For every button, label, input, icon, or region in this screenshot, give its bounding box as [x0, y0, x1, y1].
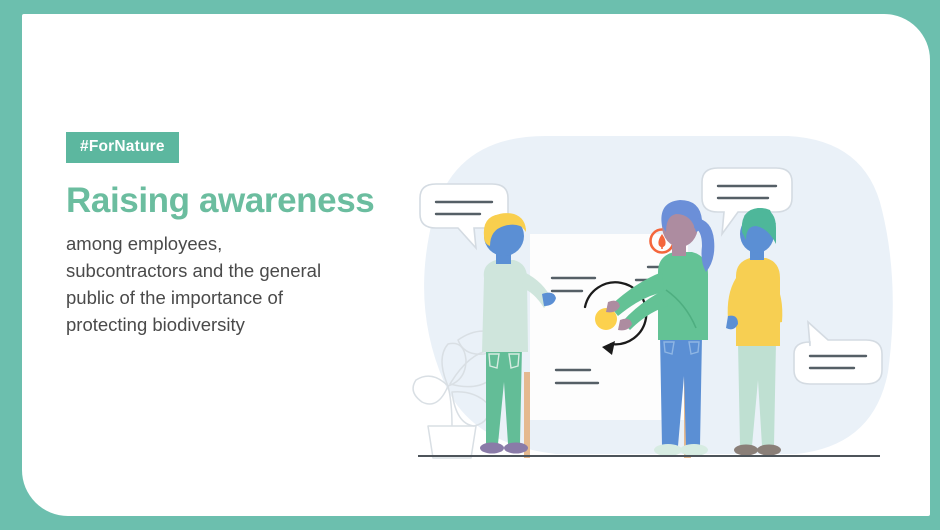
text-column: #ForNature Raising awareness among emplo… — [66, 132, 416, 338]
page-title: Raising awareness — [66, 183, 416, 220]
illustration — [396, 114, 906, 484]
hashtag-badge: #ForNature — [66, 132, 179, 163]
slide-root: #ForNature Raising awareness among emplo… — [0, 0, 940, 530]
slide-card: #ForNature Raising awareness among emplo… — [22, 14, 930, 516]
body-paragraph: among employees, subcontractors and the … — [66, 230, 336, 338]
